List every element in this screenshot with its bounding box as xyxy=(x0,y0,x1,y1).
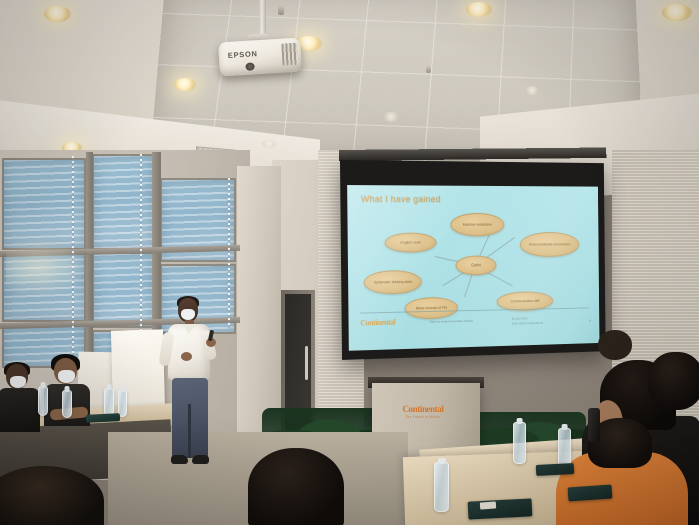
ceiling-downlight-dim xyxy=(524,86,540,95)
slide-page-number: 9 xyxy=(589,319,591,323)
attendee-left-1-torso xyxy=(0,388,40,432)
projector-lens xyxy=(245,62,254,71)
slide-title: What I have gained xyxy=(361,194,441,204)
bottle-cap xyxy=(516,418,523,424)
mindmap-node-know-production-procedures: Know production procedures xyxy=(520,232,579,257)
presenter-left-shoe xyxy=(171,455,188,464)
attendee-right-far xyxy=(598,330,632,360)
sprinkler-head xyxy=(278,6,284,15)
water-bottle[interactable] xyxy=(62,390,72,418)
slide-copyright: Slide, 2022 Continental AG xyxy=(512,321,543,326)
sprinkler-head xyxy=(426,66,431,73)
attendee-foreground-1-head xyxy=(248,448,344,525)
water-bottle[interactable] xyxy=(434,462,449,512)
notebook[interactable] xyxy=(468,498,533,519)
presenter-leg-separation xyxy=(188,404,191,458)
conference-room-photo: EPSON What I have gained xyxy=(0,0,699,525)
insulated-bottle[interactable] xyxy=(588,408,600,442)
bottle-cap xyxy=(65,386,70,392)
water-bottle[interactable] xyxy=(513,422,526,464)
door-handle[interactable] xyxy=(305,346,308,380)
mindmap-node-basic-concept-of-fm: Basic concept of FM xyxy=(405,297,458,320)
window-light-glare xyxy=(6,238,86,298)
bottle-cap xyxy=(437,458,445,464)
presenter-face-mask xyxy=(181,309,195,320)
attendee-left-1-face-mask xyxy=(10,376,26,388)
bottle-cap xyxy=(561,424,568,430)
mindmap-node-systematic-thinking-skills: Systematic thinking skills xyxy=(364,270,422,295)
attendee-right-2-head xyxy=(648,352,699,410)
epson-projector: EPSON xyxy=(218,38,302,77)
slide-footer-divider xyxy=(360,307,588,313)
water-bottle[interactable] xyxy=(558,428,571,468)
ceiling-downlight-dim xyxy=(382,112,400,122)
projector-vent-grill xyxy=(281,43,298,66)
water-bottle[interactable] xyxy=(104,388,114,416)
water-bottle[interactable] xyxy=(38,386,48,416)
ceiling-downlight xyxy=(466,2,492,17)
blind-cord[interactable] xyxy=(228,178,230,328)
bottle-cap xyxy=(107,384,112,390)
bottle-cap xyxy=(120,386,124,392)
presentation-slide: What I have gained Gains Machine install… xyxy=(347,185,599,351)
attendee-left-2-face-mask xyxy=(58,370,75,383)
mindmap-node-english-level: English Level xyxy=(385,233,437,253)
window-pane xyxy=(92,252,154,328)
presenter-right-shoe xyxy=(192,455,209,464)
window-mullion xyxy=(86,152,93,370)
ceiling-downlight xyxy=(662,4,692,21)
ceiling-downlight xyxy=(44,6,71,22)
projector-brand-label: EPSON xyxy=(228,49,258,60)
podium-tagline: The Future in Motion xyxy=(384,415,462,419)
projection-screen: What I have gained Gains Machine install… xyxy=(340,160,606,360)
mindmap-center-node: Gains xyxy=(455,255,496,275)
slide-classification: Open for limited information sharing xyxy=(430,318,488,324)
notebook[interactable] xyxy=(536,463,575,476)
ceiling-downlight xyxy=(174,78,196,91)
ceiling-downlight-dim xyxy=(262,140,276,148)
window-pane xyxy=(92,154,154,250)
paper-note[interactable] xyxy=(480,501,496,509)
podium-continental-logo: Continental xyxy=(384,404,462,414)
mindmap-node-machine-installation: Machine installation xyxy=(450,213,504,236)
bottle-cap xyxy=(41,382,46,388)
slide-continental-logo: Continental xyxy=(360,318,395,328)
presenter-left-hand xyxy=(181,352,192,361)
